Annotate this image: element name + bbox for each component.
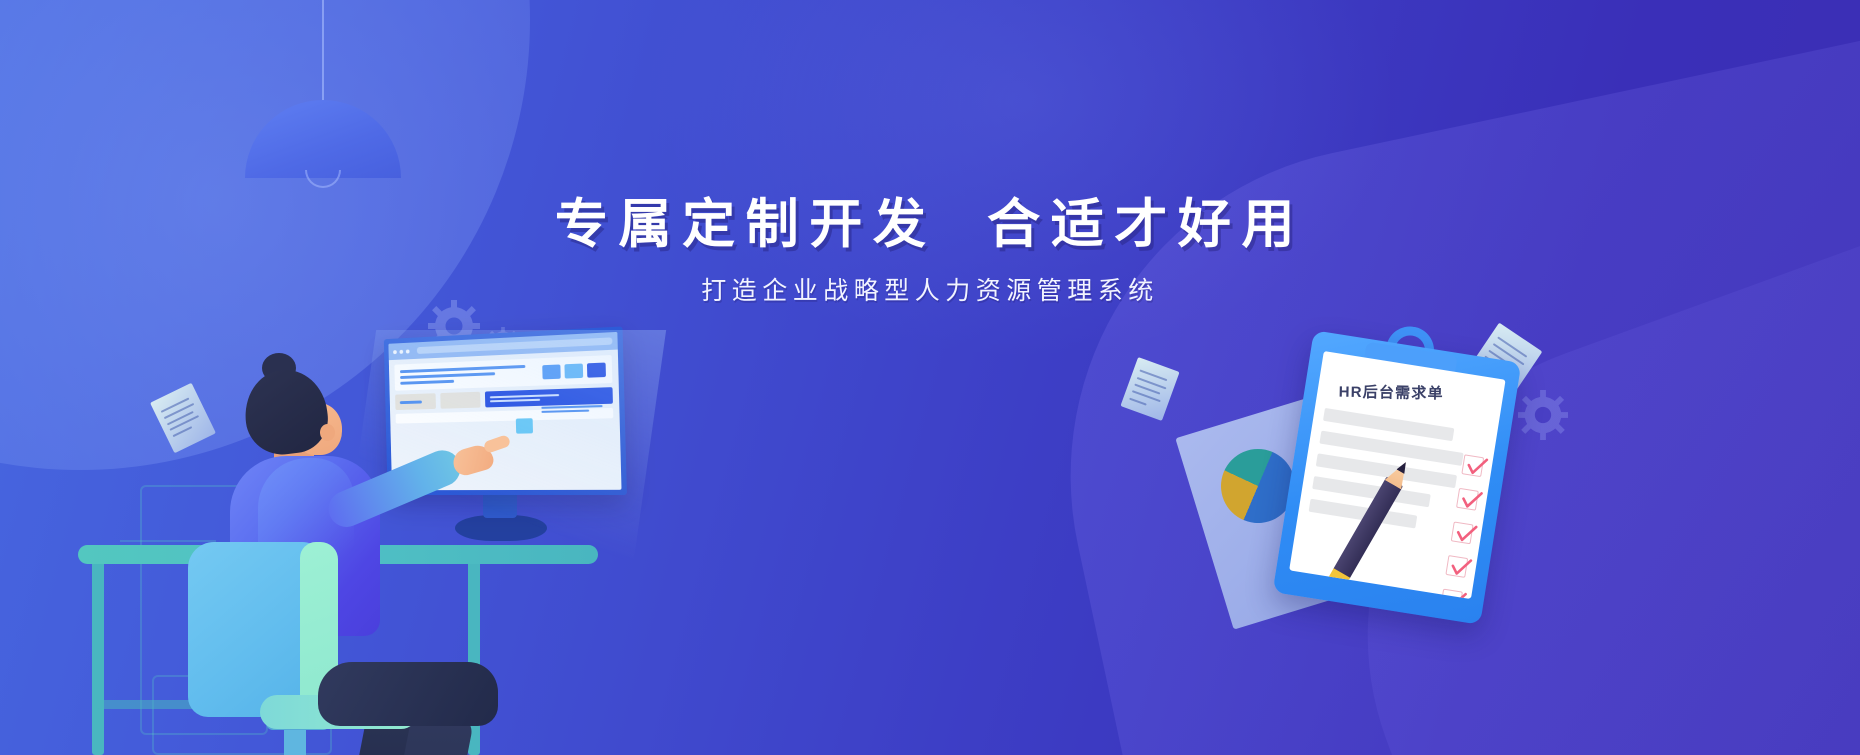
checkbox-checked bbox=[1445, 555, 1468, 578]
mockup-tile-3 bbox=[587, 362, 606, 377]
desk-leg-left bbox=[92, 560, 104, 755]
checkbox-checked bbox=[1461, 454, 1484, 477]
monitor-neck bbox=[483, 492, 517, 518]
mockup-content-panel bbox=[396, 408, 614, 424]
window-dot-close-icon bbox=[393, 350, 397, 354]
mockup-body bbox=[389, 350, 620, 429]
mockup-header-lines bbox=[400, 364, 538, 384]
checkbox-checked bbox=[1456, 488, 1479, 511]
mockup-card-2 bbox=[466, 415, 536, 417]
window-dot-minimize-icon bbox=[399, 349, 403, 353]
mockup-tile-2 bbox=[564, 363, 583, 378]
blueprint-line bbox=[120, 540, 216, 542]
clipboard: HR后台需求单 bbox=[1273, 330, 1522, 625]
mockup-header-tiles bbox=[542, 362, 606, 379]
lamp-cord bbox=[322, 0, 324, 101]
thigh bbox=[318, 662, 498, 726]
mockup-card-3 bbox=[541, 413, 608, 415]
hero-banner: 专属定制开发 合适才好用 打造企业战略型人力资源管理系统 bbox=[0, 0, 1860, 755]
mockup-chip-1 bbox=[395, 393, 436, 410]
checkbox-checked bbox=[1451, 521, 1474, 544]
ear bbox=[320, 424, 335, 441]
mockup-chip-2 bbox=[440, 392, 480, 409]
clipboard-title: HR后台需求单 bbox=[1339, 381, 1506, 405]
clipboard-sheet: HR后台需求单 bbox=[1289, 351, 1505, 599]
monitor-base bbox=[455, 515, 547, 541]
mockup-card-1 bbox=[400, 417, 461, 419]
window-dot-maximize-icon bbox=[406, 349, 410, 353]
mockup-tile-1 bbox=[542, 364, 560, 379]
mockup-header-row bbox=[394, 355, 612, 391]
gear-right-icon bbox=[1518, 390, 1568, 440]
